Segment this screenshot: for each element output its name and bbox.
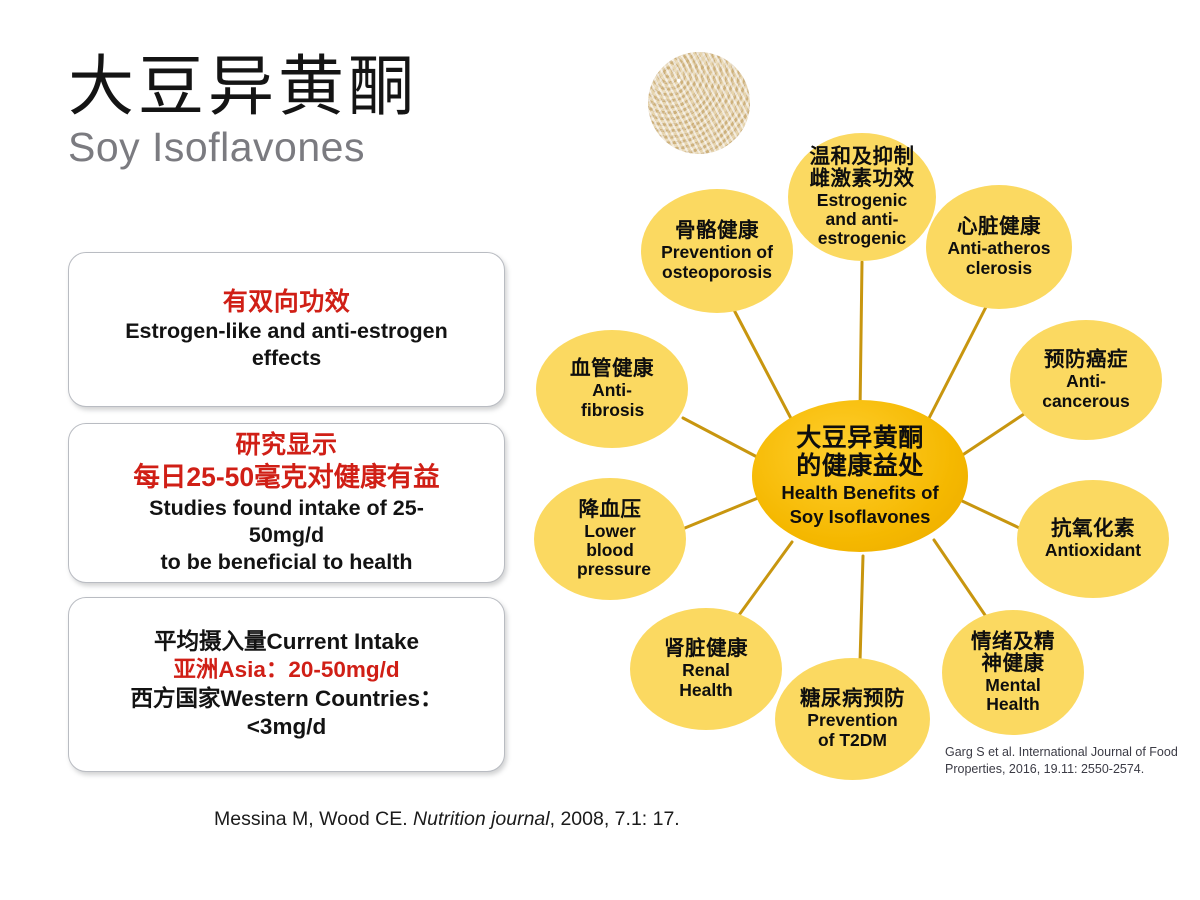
radial-benefits-diagram: 大豆异黄酮 的健康益处 Health Benefits of Soy Isofl… xyxy=(520,0,1200,900)
info-box-recommended-dosage: 研究显示 每日25-50毫克对健康有益 Studies found intake… xyxy=(68,423,505,583)
spoke-renal xyxy=(734,542,792,622)
node-label-cn: 预防癌症 xyxy=(1044,349,1128,371)
node-anti-fibrosis[interactable]: 血管健康 Anti-fibrosis xyxy=(536,330,688,448)
node-label-cn: 降血压 xyxy=(579,499,642,521)
node-label-en: Renal Health xyxy=(669,661,743,700)
spoke-osteoporosis xyxy=(733,308,796,428)
node-label-cn: 骨骼健康 xyxy=(675,220,759,242)
info-box-line: <3mg/d xyxy=(83,713,490,741)
node-label-cn: 心脏健康 xyxy=(957,216,1041,238)
node-prevention-of-osteoporosis[interactable]: 骨骼健康 Prevention of osteoporosis xyxy=(641,189,793,313)
info-box-line: 亚洲Asia：20-50mg/d xyxy=(83,656,490,684)
node-label-en: Antioxidant xyxy=(1045,541,1141,560)
info-box-line: 有双向功效 xyxy=(83,287,490,319)
info-box-line: 平均摄入量Current Intake xyxy=(83,628,490,656)
center-node-en-line2: Soy Isoflavones xyxy=(790,507,931,528)
node-label-en: Estrogenic and anti-estrogenic xyxy=(810,191,914,249)
spoke-t2dm xyxy=(860,556,863,662)
spoke-estrogenic xyxy=(860,262,862,412)
node-label-en: Mental Health xyxy=(973,676,1053,715)
spoke-cancer xyxy=(958,414,1024,458)
page-title-english: Soy Isoflavones xyxy=(68,125,528,170)
node-label-cn: 情绪及精神健康 xyxy=(970,631,1056,675)
node-anti-cancerous[interactable]: 预防癌症 Anti-cancerous xyxy=(1010,320,1162,440)
left-content-column: 大豆异黄酮 Soy Isoflavones 有双向功效 Estrogen-lik… xyxy=(0,0,540,900)
page-title-chinese: 大豆异黄酮 xyxy=(68,52,528,121)
info-box-current-intake: 平均摄入量Current Intake 亚洲Asia：20-50mg/d 西方国… xyxy=(68,597,505,772)
info-box-line: 50mg/d xyxy=(83,522,490,549)
node-label-en: Lower blood pressure xyxy=(577,522,643,580)
node-label-cn: 温和及抑制雌激素功效 xyxy=(803,146,921,190)
node-label-en: Anti-atherosclerosis xyxy=(947,239,1051,278)
spoke-fibrosis xyxy=(683,418,759,458)
info-box-line: 每日25-50毫克对健康有益 xyxy=(83,461,490,494)
footnote-prefix: Messina M, Wood CE. xyxy=(214,808,413,830)
node-label-cn: 血管健康 xyxy=(570,358,654,380)
info-box-line: effects xyxy=(83,345,490,372)
node-label-en: Prevention of osteoporosis xyxy=(661,243,773,282)
info-box-line: to be beneficial to health xyxy=(83,549,490,576)
center-node-cn-line1: 大豆异黄酮 xyxy=(796,424,924,452)
spoke-bp xyxy=(680,498,758,530)
node-estrogenic-anti-estrogenic[interactable]: 温和及抑制雌激素功效 Estrogenic and anti-estrogeni… xyxy=(788,133,936,261)
info-box-line: 西方国家Western Countries： xyxy=(83,685,490,713)
node-lower-blood-pressure[interactable]: 降血压 Lower blood pressure xyxy=(534,478,686,600)
spoke-mental xyxy=(934,540,987,618)
node-label-en: Prevention of T2DM xyxy=(801,711,905,750)
node-mental-health[interactable]: 情绪及精神健康 Mental Health xyxy=(942,610,1084,735)
node-label-en: Anti-fibrosis xyxy=(581,381,643,420)
center-node-health-benefits[interactable]: 大豆异黄酮 的健康益处 Health Benefits of Soy Isofl… xyxy=(752,400,968,552)
diagram-source-citation: Garg S et al. International Journal of F… xyxy=(945,744,1195,778)
spoke-heart xyxy=(924,305,987,428)
center-node-en-line1: Health Benefits of xyxy=(781,483,938,504)
info-box-line: 研究显示 xyxy=(83,430,490,462)
info-box-bidirectional-effects: 有双向功效 Estrogen-like and anti-estrogen ef… xyxy=(68,252,505,407)
center-node-cn-line2: 的健康益处 xyxy=(796,452,924,480)
node-label-cn: 糖尿病预防 xyxy=(800,688,905,710)
node-heart-health[interactable]: 心脏健康 Anti-atherosclerosis xyxy=(926,185,1072,309)
node-label-en: Anti-cancerous xyxy=(1038,372,1134,411)
node-label-cn: 肾脏健康 xyxy=(664,638,748,660)
info-box-line: Studies found intake of 25- xyxy=(83,495,490,522)
node-prevention-of-t2dm[interactable]: 糖尿病预防 Prevention of T2DM xyxy=(775,658,930,780)
node-renal-health[interactable]: 肾脏健康 Renal Health xyxy=(630,608,782,730)
node-antioxidant[interactable]: 抗氧化素 Antioxidant xyxy=(1017,480,1169,598)
node-label-cn: 抗氧化素 xyxy=(1051,518,1135,540)
info-box-line: Estrogen-like and anti-estrogen xyxy=(83,318,490,345)
title-block: 大豆异黄酮 Soy Isoflavones xyxy=(68,52,528,170)
